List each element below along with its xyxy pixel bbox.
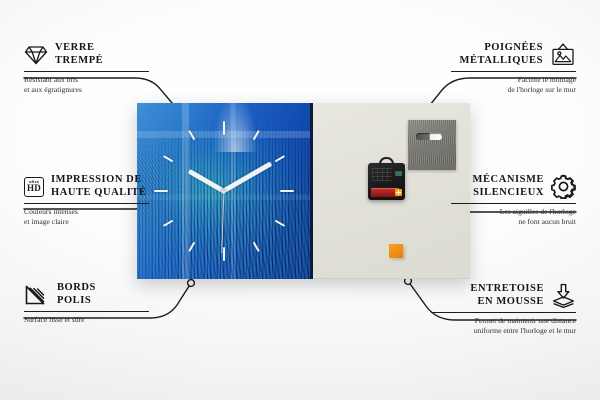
callout-description: Facilite le montage de l'horloge sur le …: [451, 75, 576, 94]
callout-entretoise-en-mousse[interactable]: ENTRETOISE EN MOUSSE Permet de maintenir…: [431, 283, 576, 335]
hand-hub: [221, 189, 226, 194]
callout-description: Surface lisse et sûre: [24, 315, 149, 325]
hour-marker: [280, 190, 294, 192]
clock-back-panel: [313, 103, 470, 279]
callout-description: Les aiguilles de l'horloge ne font aucun…: [451, 207, 576, 226]
callout-mecanisme-silencieux[interactable]: MÉCANISME SILENCIEUX Les aiguilles de l'…: [451, 174, 576, 226]
callout-rule: [24, 311, 149, 312]
foam-spacer: [389, 244, 403, 258]
callout-header: ENTRETOISE EN MOUSSE: [431, 283, 576, 308]
hour-marker: [162, 155, 173, 162]
callout-title: POIGNÉES MÉTALLIQUES: [460, 42, 543, 67]
callout-impression-haute-qualite[interactable]: ultra HD IMPRESSION DE HAUTE QUALITÉ Cou…: [24, 174, 149, 226]
callout-rule: [24, 71, 149, 72]
hour-marker: [188, 242, 195, 253]
clock-face: [137, 103, 310, 279]
framed-picture-hanging-icon: [550, 43, 576, 66]
callout-description: Permet de maintenir une distance uniform…: [431, 316, 576, 335]
callout-header: VERRE TREMPÉ: [24, 42, 149, 67]
callout-header: POIGNÉES MÉTALLIQUES: [451, 42, 576, 67]
mechanism-texture: [372, 168, 392, 181]
hour-marker: [223, 247, 225, 261]
hour-marker: [223, 121, 225, 135]
callout-title: VERRE TREMPÉ: [55, 42, 103, 67]
minute-hand: [222, 161, 272, 193]
callout-title: BORDS POLIS: [57, 282, 96, 307]
callout-title: ENTRETOISE EN MOUSSE: [470, 283, 544, 308]
callout-rule: [451, 203, 576, 204]
product-image: [137, 103, 470, 279]
hour-marker: [188, 130, 195, 141]
callout-header: BORDS POLIS: [24, 282, 149, 307]
clock-mechanism: [368, 163, 405, 200]
mechanism-hanging-loop: [379, 157, 394, 166]
hour-marker: [274, 220, 285, 227]
callout-rule: [431, 312, 576, 313]
callout-verre-trempe[interactable]: VERRE TREMPÉ Résistant aux bris et aux é…: [24, 42, 149, 94]
hour-marker: [252, 130, 259, 141]
battery-plus-terminal: [395, 189, 402, 196]
battery: [371, 188, 399, 197]
clock-front-panel: [137, 103, 313, 279]
callout-bords-polis[interactable]: BORDS POLIS Surface lisse et sûre: [24, 282, 149, 325]
second-hand: [221, 191, 225, 253]
hour-marker: [274, 155, 285, 162]
metal-hanger-plate: [408, 120, 456, 170]
press-down-foam-icon: [551, 283, 576, 308]
hour-hand: [188, 169, 225, 193]
anchor-dot-bords-polis: [188, 280, 195, 287]
polished-edges-icon: [24, 284, 50, 306]
callout-description: Résistant aux bris et aux égratignures: [24, 75, 149, 94]
callout-rule: [451, 71, 576, 72]
diamond-icon: [24, 44, 48, 65]
ultra-hd-icon: ultra HD: [24, 177, 44, 197]
callout-header: ultra HD IMPRESSION DE HAUTE QUALITÉ: [24, 174, 149, 199]
gear-icon: [551, 174, 576, 199]
mechanism-chip: [395, 171, 402, 176]
hour-marker: [154, 190, 168, 192]
ultra-hd-big-text: HD: [27, 184, 41, 193]
callout-rule: [24, 203, 149, 204]
callout-title: IMPRESSION DE HAUTE QUALITÉ: [51, 174, 147, 199]
hour-marker: [162, 220, 173, 227]
hour-marker: [252, 242, 259, 253]
hanger-keyhole-slot: [416, 133, 442, 140]
infographic-canvas: VERRE TREMPÉ Résistant aux bris et aux é…: [0, 0, 600, 400]
callout-description: Couleurs intenses et image claire: [24, 207, 149, 226]
callout-title: MÉCANISME SILENCIEUX: [473, 174, 544, 199]
callout-header: MÉCANISME SILENCIEUX: [451, 174, 576, 199]
callout-poignees-metalliques[interactable]: POIGNÉES MÉTALLIQUES Facilite le montage…: [451, 42, 576, 94]
